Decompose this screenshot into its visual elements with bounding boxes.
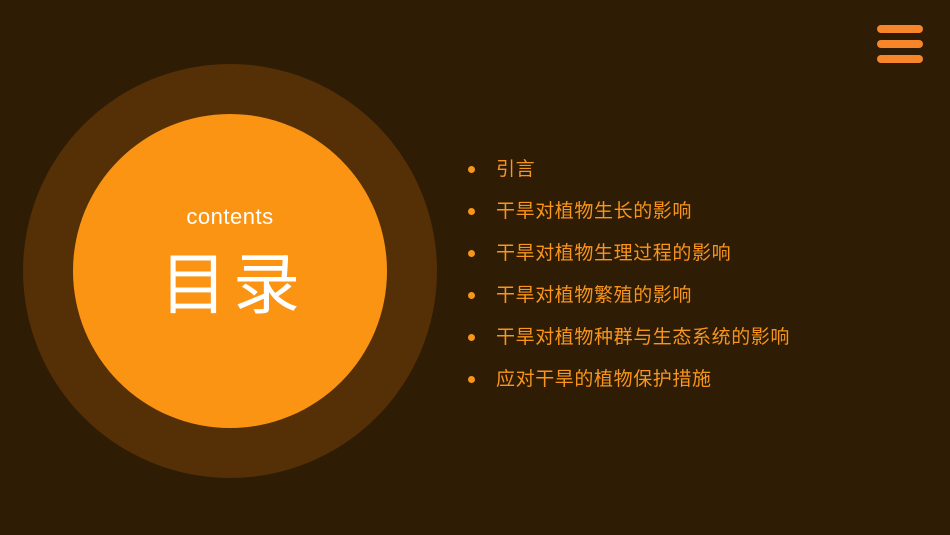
bullet-icon <box>468 250 475 257</box>
agenda-list: 引言 干旱对植物生长的影响 干旱对植物生理过程的影响 干旱对植物繁殖的影响 干旱… <box>468 148 908 400</box>
list-item[interactable]: 干旱对植物生长的影响 <box>468 190 908 232</box>
bullet-icon <box>468 292 475 299</box>
bullet-icon <box>468 334 475 341</box>
list-item[interactable]: 干旱对植物生理过程的影响 <box>468 232 908 274</box>
list-item-label: 引言 <box>496 160 535 179</box>
list-item[interactable]: 干旱对植物繁殖的影响 <box>468 274 908 316</box>
presentation-slide: contents 目录 引言 干旱对植物生长的影响 干旱对植物生理过程的影响 干… <box>0 0 950 535</box>
hamburger-bar-bottom <box>877 55 923 63</box>
list-item-label: 干旱对植物生理过程的影响 <box>496 244 731 263</box>
list-item[interactable]: 应对干旱的植物保护措施 <box>468 358 908 400</box>
hamburger-bar-middle <box>877 40 923 48</box>
hamburger-menu-icon[interactable] <box>877 25 923 63</box>
hamburger-bar-top <box>877 25 923 33</box>
bullet-icon <box>468 166 475 173</box>
list-item-label: 干旱对植物种群与生态系统的影响 <box>496 328 790 347</box>
bullet-icon <box>468 376 475 383</box>
bullet-icon <box>468 208 475 215</box>
list-item[interactable]: 引言 <box>468 148 908 190</box>
decorative-inner-circle <box>73 114 387 428</box>
list-item-label: 干旱对植物生长的影响 <box>496 202 692 221</box>
list-item-label: 应对干旱的植物保护措施 <box>496 370 712 389</box>
list-item[interactable]: 干旱对植物种群与生态系统的影响 <box>468 316 908 358</box>
list-item-label: 干旱对植物繁殖的影响 <box>496 286 692 305</box>
